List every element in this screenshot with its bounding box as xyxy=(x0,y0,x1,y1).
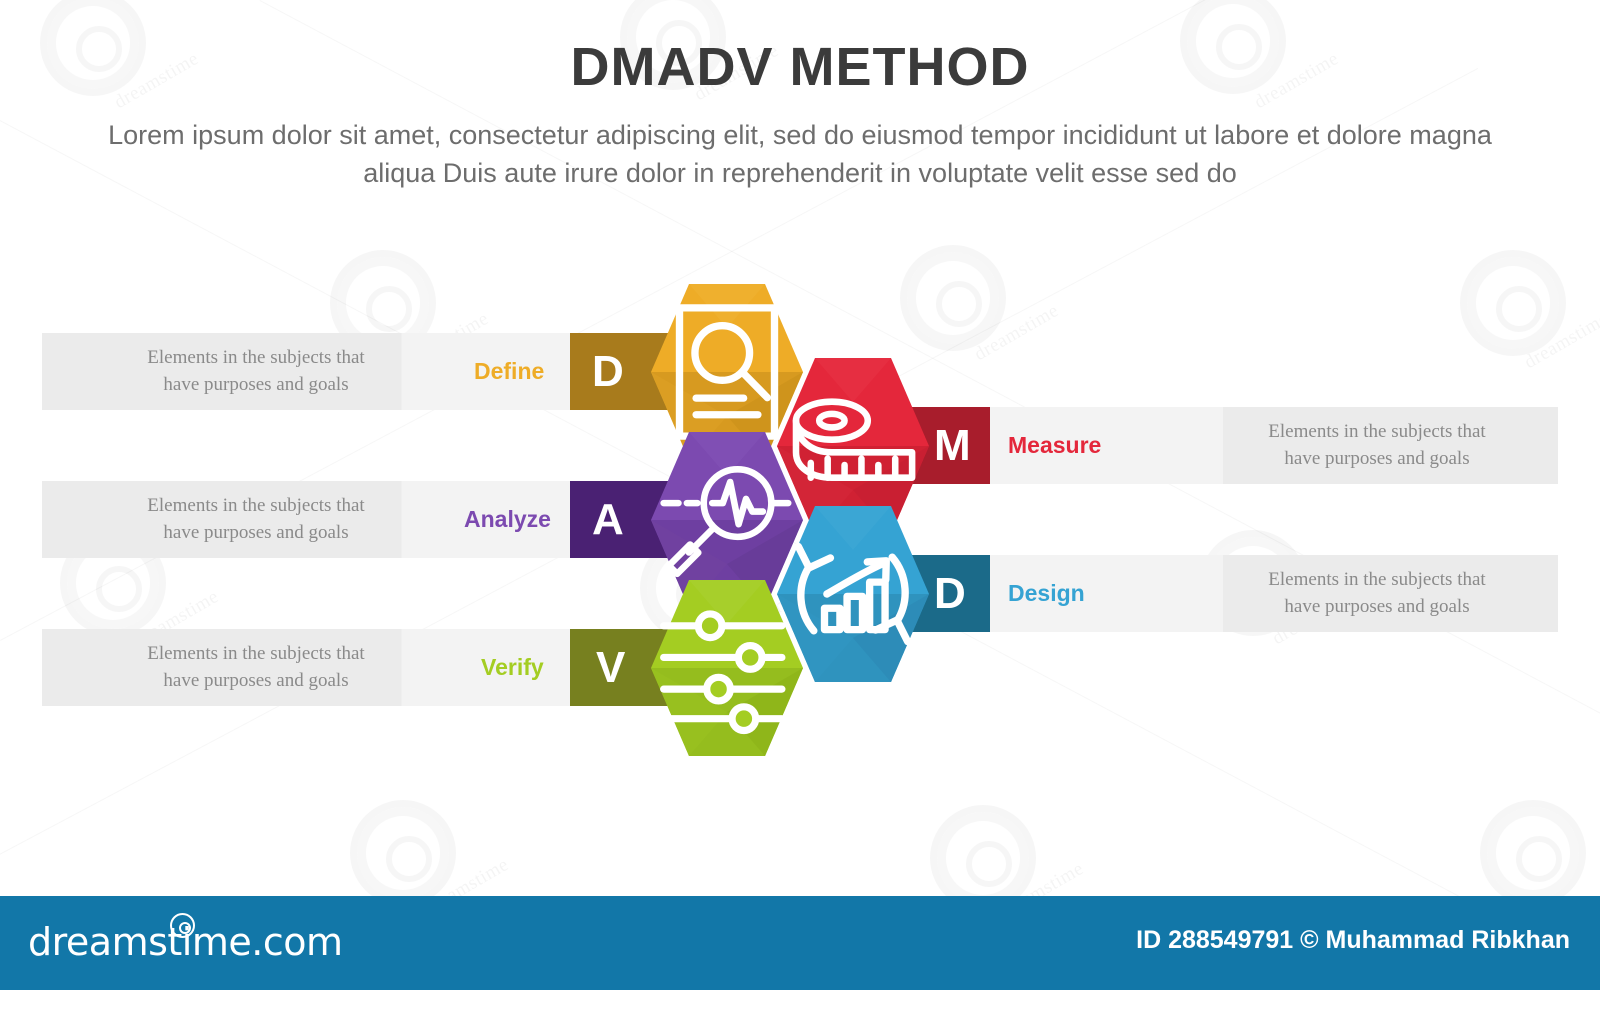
stage-label-define[interactable]: Define xyxy=(474,333,544,410)
verify-description-bar: Elements in the subjects that have purpo… xyxy=(42,629,662,706)
stage-label-analyze[interactable]: Analyze xyxy=(464,481,551,558)
footer-bar: dreamstime.com ID 288549791 © Muhammad R… xyxy=(0,896,1600,990)
define-description-bar: Elements in the subjects that have purpo… xyxy=(42,333,662,410)
dreamstime-spiral-icon xyxy=(170,913,195,938)
stage-label-design[interactable]: Design xyxy=(1008,555,1085,632)
verify-letter: V xyxy=(596,646,625,690)
design-description: Elements in the subjects that have purpo… xyxy=(1212,567,1542,619)
measure-letter: M xyxy=(934,424,971,468)
verify-hexagon[interactable] xyxy=(651,580,803,756)
image-credit: ID 288549791 © Muhammad Ribkhan xyxy=(1136,926,1570,955)
verify-description: Elements in the subjects that have purpo… xyxy=(76,641,436,693)
analyze-letter: A xyxy=(592,498,624,542)
page-title: DMADV METHOD xyxy=(0,0,1600,98)
stage-label-measure[interactable]: Measure xyxy=(1008,407,1101,484)
define-description: Elements in the subjects that have purpo… xyxy=(76,345,436,397)
header: DMADV METHOD Lorem ipsum dolor sit amet,… xyxy=(0,0,1600,193)
analyze-description-bar: Elements in the subjects that have purpo… xyxy=(42,481,662,558)
define-letter: D xyxy=(592,350,624,394)
analyze-description: Elements in the subjects that have purpo… xyxy=(76,493,436,545)
sliders-icon xyxy=(651,580,803,756)
page-subtitle: Lorem ipsum dolor sit amet, consectetur … xyxy=(100,116,1500,193)
stage-label-verify[interactable]: Verify xyxy=(481,629,544,706)
measure-description: Elements in the subjects that have purpo… xyxy=(1212,419,1542,471)
design-letter: D xyxy=(934,572,966,616)
